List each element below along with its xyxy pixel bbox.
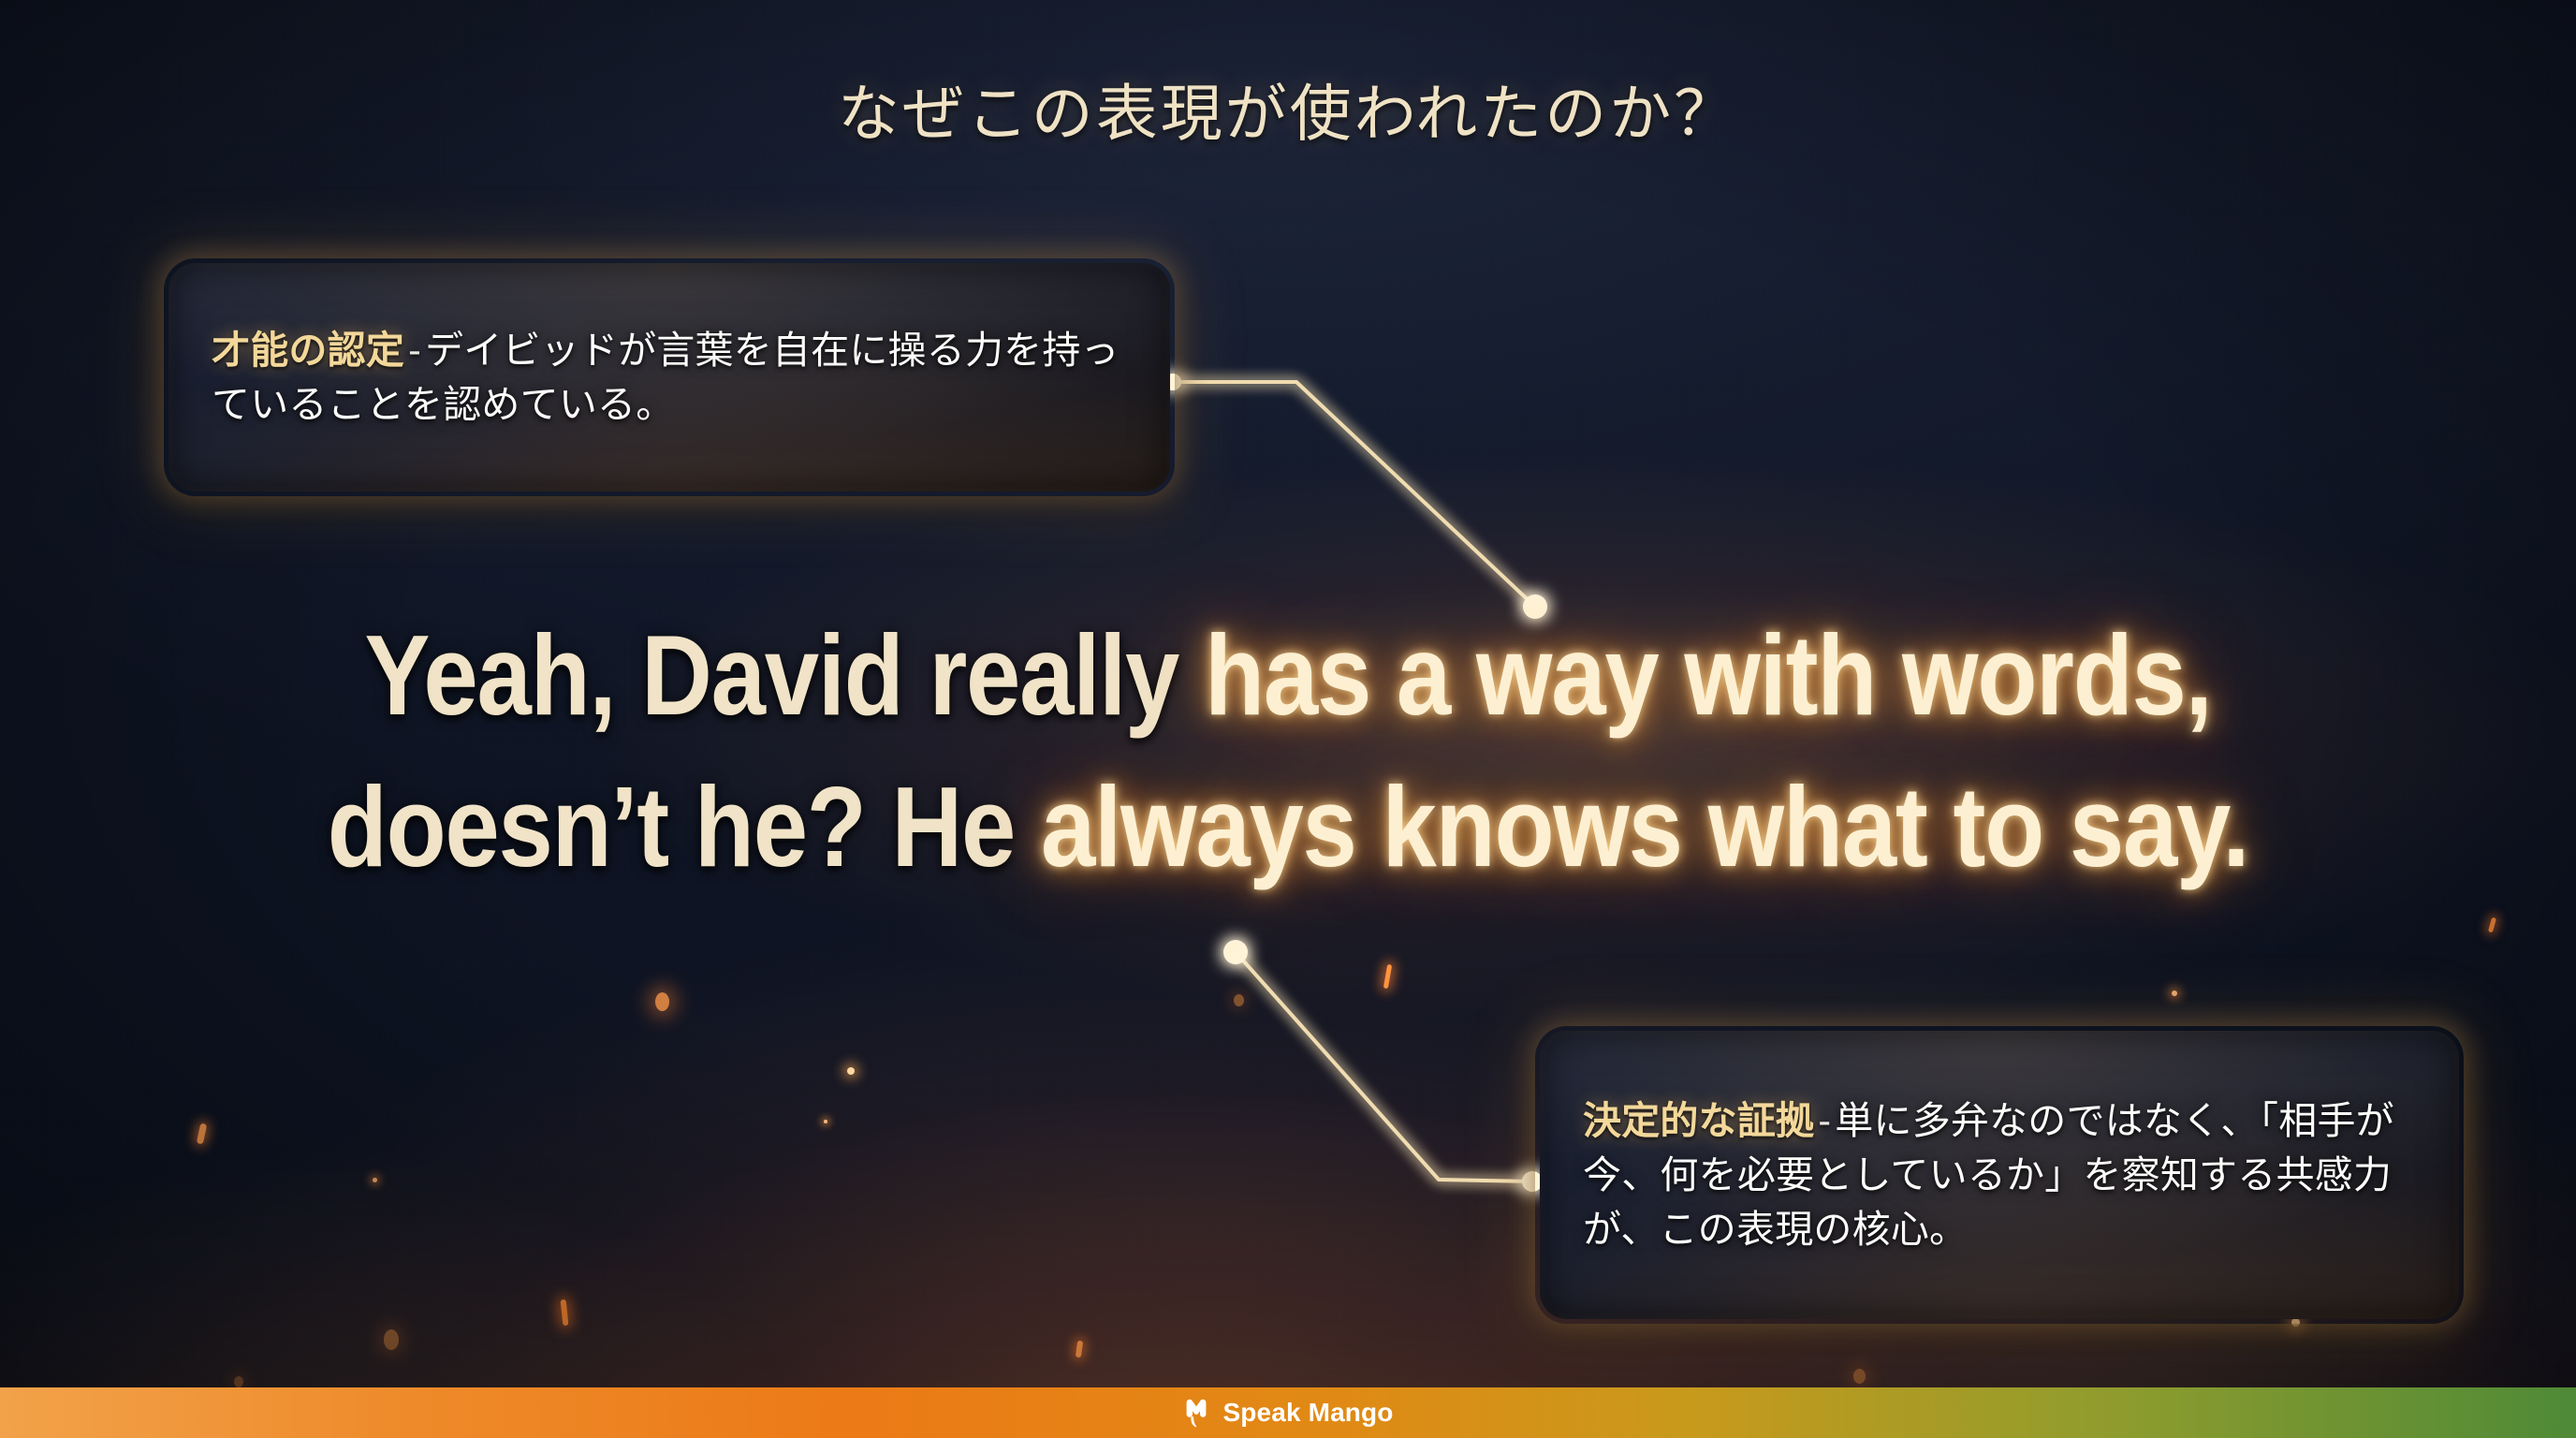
quote-line-1-plain: Yeah, David really — [364, 611, 1205, 739]
footer-brand-name: Speak Mango — [1222, 1398, 1393, 1428]
callout-label: 決定的な証拠 — [1583, 1099, 1814, 1142]
callout-box-decisive-evidence[interactable]: 決定的な証拠-単に多弁なのではなく、「相手が今、何を必要としているか」を察知する… — [1535, 1026, 2464, 1324]
quote-line-2: doesn’t he? He always knows what to say. — [181, 751, 2396, 902]
main-quote: Yeah, David really has a way with words,… — [181, 599, 2396, 903]
quote-line-1: Yeah, David really has a way with words, — [181, 599, 2396, 751]
quote-line-2-highlight: always knows what to say. — [1041, 763, 2248, 890]
callout-text: 決定的な証拠-単に多弁なのではなく、「相手が今、何を必要としているか」を察知する… — [1583, 1093, 2416, 1257]
callout-inner: 決定的な証拠-単に多弁なのではなく、「相手が今、何を必要としているか」を察知する… — [1540, 1031, 2459, 1319]
callout-dash: - — [404, 329, 425, 372]
slide-title: なぜこの表現が使われたのか？ — [0, 64, 2576, 154]
quote-line-2-plain: doesn’t he? He — [328, 763, 1041, 890]
callout-text: 才能の認定-デイビッドが言葉を自在に操る力を持っていることを認めている。 — [212, 323, 1127, 432]
slide-canvas: なぜこの表現が使われたのか？ 才能の認定-デイ — [0, 0, 2576, 1438]
callout-dash: - — [1814, 1099, 1835, 1142]
callout-box-talent-recognition[interactable]: 才能の認定-デイビッドが言葉を自在に操る力を持っていることを認めている。 — [164, 258, 1175, 496]
mango-m-logo-icon — [1182, 1398, 1210, 1428]
callout-label: 才能の認定 — [212, 329, 404, 372]
footer-brand-bar: Speak Mango — [0, 1387, 2576, 1438]
quote-line-1-highlight: has a way with words, — [1205, 611, 2212, 739]
callout-inner: 才能の認定-デイビッドが言葉を自在に操る力を持っていることを認めている。 — [168, 263, 1170, 492]
